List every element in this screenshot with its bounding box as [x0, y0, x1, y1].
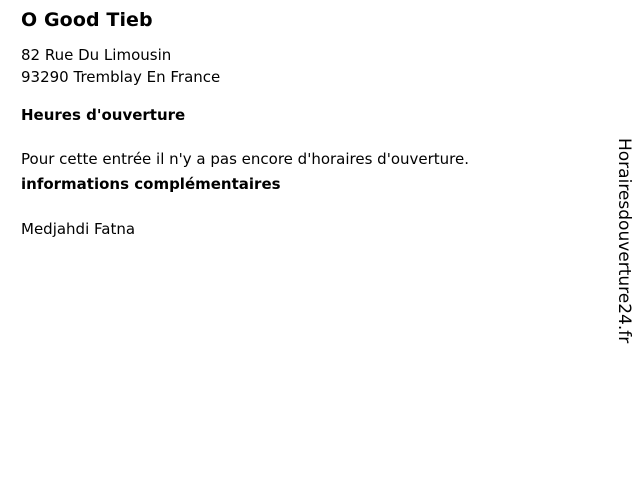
opening-hours-heading: Heures d'ouverture	[21, 105, 185, 125]
page-title: O Good Tieb	[21, 9, 153, 31]
address-street: 82 Rue Du Limousin	[21, 44, 220, 66]
address-block: 82 Rue Du Limousin 93290 Tremblay En Fra…	[21, 44, 220, 88]
site-watermark-label: Horairesdouverture24.fr	[613, 138, 635, 343]
additional-info-text: Medjahdi Fatna	[21, 219, 135, 239]
site-watermark: Horairesdouverture24.fr	[613, 138, 635, 348]
additional-info-heading: informations complémentaires	[21, 174, 281, 194]
address-city: 93290 Tremblay En France	[21, 66, 220, 88]
opening-hours-text: Pour cette entrée il n'y a pas encore d'…	[21, 149, 469, 169]
document-page: O Good Tieb 82 Rue Du Limousin 93290 Tre…	[0, 0, 640, 480]
